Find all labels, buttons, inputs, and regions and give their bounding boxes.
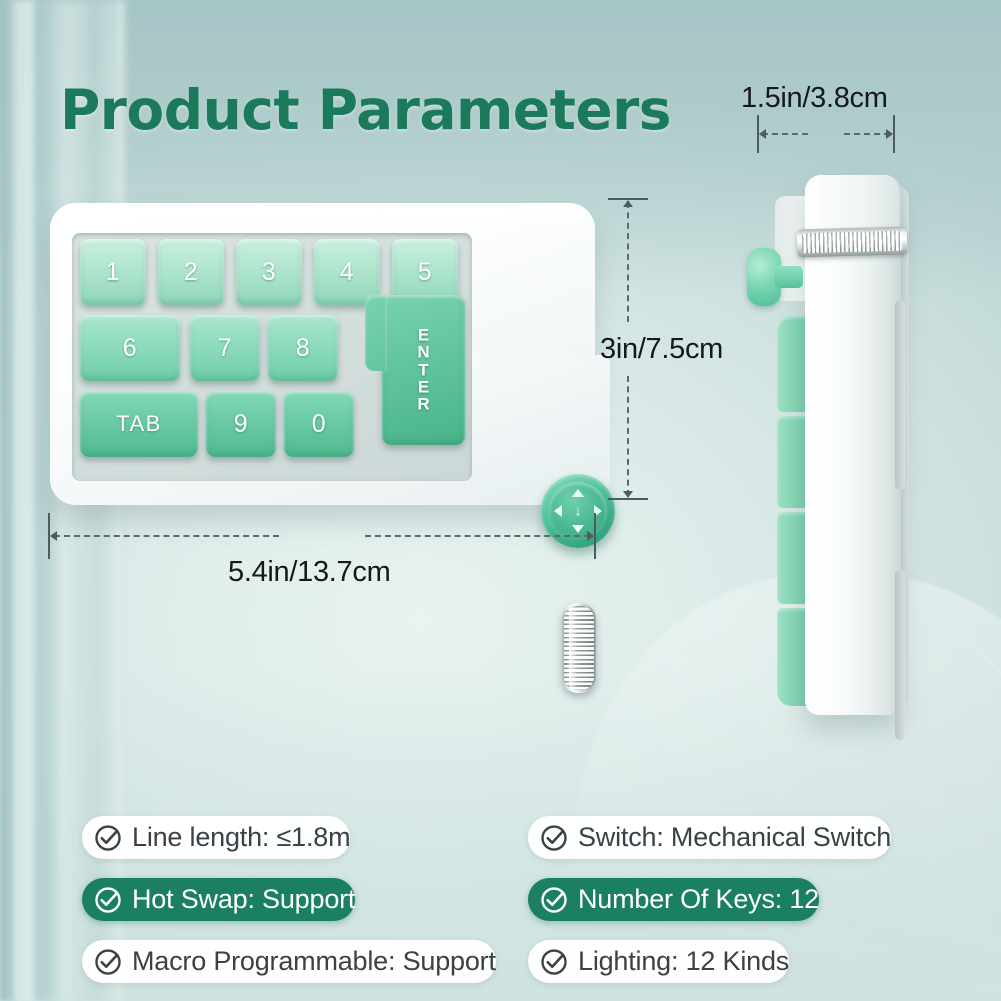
key-0[interactable]: 0 [284, 391, 354, 457]
width-dash-left [54, 535, 279, 537]
height-dimension-label: 3in/7.5cm [600, 333, 723, 366]
key-6[interactable]: 6 [80, 315, 180, 381]
width-dimension-label: 5.4in/13.7cm [228, 556, 390, 589]
thickness-dimension-line [757, 133, 895, 135]
side-joystick-stem [775, 266, 803, 288]
key-label: 5 [418, 258, 432, 287]
feature-switch[interactable]: Switch: Mechanical Switch [528, 816, 891, 859]
key-8[interactable]: 8 [268, 315, 338, 381]
key-label: TAB [116, 411, 162, 437]
product-parameters-infographic: Product Parameters 1 2 3 4 5 6 7 8 TAB 9… [0, 0, 1001, 1001]
check-circle-icon [539, 885, 569, 915]
thickness-dash-right [844, 133, 890, 135]
height-cap-bottom [608, 498, 648, 500]
key-2[interactable]: 2 [158, 239, 224, 305]
feature-label: Number Of Keys: 12 [578, 884, 819, 915]
check-circle-icon [539, 823, 569, 853]
height-arrow-top [623, 200, 633, 207]
key-label: 9 [234, 410, 248, 439]
key-enter[interactable]: E N T E R [382, 295, 465, 445]
enter-letter-t: T [418, 361, 428, 378]
width-dash-right [365, 535, 590, 537]
feature-column-right: Switch: Mechanical Switch Number Of Keys… [528, 816, 940, 1001]
feature-label: Hot Swap: Support [132, 884, 355, 915]
feature-hot-swap[interactable]: Hot Swap: Support [82, 878, 355, 921]
width-cap-right [594, 513, 596, 559]
height-dash-lower [627, 376, 629, 496]
check-circle-icon [93, 947, 123, 977]
feature-lighting[interactable]: Lighting: 12 Kinds [528, 940, 789, 983]
width-arrow-left [50, 531, 57, 541]
feature-macro-programmable[interactable]: Macro Programmable: Support [82, 940, 496, 983]
arrow-left-icon [554, 505, 562, 517]
thickness-dash-left [762, 133, 808, 135]
thickness-dimension-label: 1.5in/3.8cm [741, 82, 888, 115]
joystick-center-icon: ↓ [574, 504, 582, 519]
side-edge-lower [895, 570, 905, 740]
key-label: 8 [296, 334, 310, 363]
width-dimension-line [48, 535, 596, 537]
arrow-down-icon [572, 525, 584, 533]
key-label: 6 [123, 334, 137, 363]
key-3[interactable]: 3 [236, 239, 302, 305]
check-circle-icon [539, 947, 569, 977]
check-circle-icon [93, 823, 123, 853]
width-arrow-right [587, 531, 594, 541]
thickness-arrow-right [886, 129, 893, 139]
enter-letter-r: R [417, 396, 429, 413]
thickness-arrow-left [759, 129, 766, 139]
feature-label: Switch: Mechanical Switch [578, 822, 891, 853]
key-label: 7 [218, 334, 232, 363]
enter-letter-n: N [417, 344, 429, 361]
side-rotary-knob [797, 227, 908, 258]
key-7[interactable]: 7 [190, 315, 260, 381]
feature-list: Line length: ≤1.8m Hot Swap: Support Mac… [0, 816, 1001, 1001]
key-label: 1 [106, 258, 120, 287]
height-dash-upper [627, 202, 629, 322]
keypad-top-view: 1 2 3 4 5 6 7 8 TAB 9 0 E N T E R [50, 203, 595, 505]
check-circle-icon [93, 885, 123, 915]
arrow-up-icon [572, 489, 584, 497]
feature-line-length[interactable]: Line length: ≤1.8m [82, 816, 350, 859]
feature-label: Line length: ≤1.8m [132, 822, 350, 853]
enter-letter-e1: E [418, 327, 429, 344]
key-label: 4 [340, 258, 354, 287]
key-label: 0 [312, 410, 326, 439]
key-label: 3 [262, 258, 276, 287]
key-tab[interactable]: TAB [80, 391, 198, 457]
side-edge-upper [895, 300, 905, 490]
feature-label: Lighting: 12 Kinds [578, 946, 789, 977]
key-enter-label: E N T E R [417, 327, 429, 414]
side-knob-ridges [802, 231, 902, 254]
feature-column-left: Line length: ≤1.8m Hot Swap: Support Mac… [82, 816, 492, 1001]
rotary-knob[interactable] [562, 603, 596, 693]
key-9[interactable]: 9 [206, 391, 276, 457]
feature-number-of-keys[interactable]: Number Of Keys: 12 [528, 878, 819, 921]
enter-letter-e2: E [418, 379, 429, 396]
feature-label: Macro Programmable: Support [132, 946, 496, 977]
key-label: 2 [184, 258, 198, 287]
page-title: Product Parameters [60, 78, 671, 142]
knob-gloss [569, 607, 577, 689]
height-arrow-bottom [623, 491, 633, 498]
keypad-side-view [745, 170, 995, 730]
key-enter-notch [365, 295, 387, 371]
key-1[interactable]: 1 [80, 239, 146, 305]
thickness-cap-right [893, 115, 895, 153]
